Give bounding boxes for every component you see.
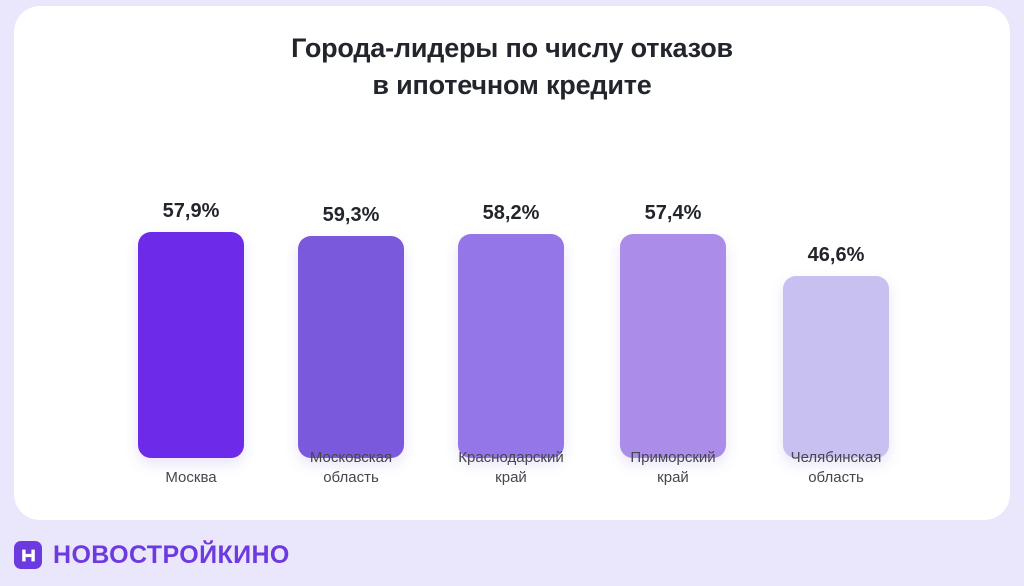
bar-chart-plot-area: 57,9%Москва59,3%Московская область58,2%К… <box>14 6 1010 520</box>
bar-rect[interactable] <box>783 276 889 458</box>
logo-h-mark-icon <box>14 541 42 569</box>
bar-category-label: Челябинская область <box>751 448 921 489</box>
bar-group[interactable]: 59,3%Московская область <box>298 236 404 520</box>
bar-group[interactable]: 58,2%Краснодарский край <box>458 234 564 520</box>
bar-rect[interactable] <box>620 234 726 458</box>
bar-category-label: Москва <box>106 468 276 489</box>
bar-value-label: 58,2% <box>483 202 540 225</box>
footer-branding: НОВОСТРОЙКИНО <box>14 534 290 576</box>
bar-rect[interactable] <box>458 234 564 458</box>
bar-category-label: Московская область <box>266 448 436 489</box>
bar-category-label: Приморский край <box>588 448 758 489</box>
infographic-root: Города-лидеры по числу отказов в ипотечн… <box>0 0 1024 586</box>
bar-value-label: 46,6% <box>808 244 865 267</box>
bar-group[interactable]: 46,6%Челябинская область <box>783 276 889 520</box>
bar-value-label: 57,9% <box>163 200 220 223</box>
bar-group[interactable]: 57,4%Приморский край <box>620 234 726 520</box>
bar-category-label: Краснодарский край <box>426 448 596 489</box>
bar-rect[interactable] <box>138 232 244 458</box>
bar-value-label: 59,3% <box>323 204 380 227</box>
bar-rect[interactable] <box>298 236 404 458</box>
chart-card: Города-лидеры по числу отказов в ипотечн… <box>14 6 1010 520</box>
bar-value-label: 57,4% <box>645 202 702 225</box>
brand-name: НОВОСТРОЙКИНО <box>53 541 290 570</box>
bar-group[interactable]: 57,9%Москва <box>138 232 244 520</box>
